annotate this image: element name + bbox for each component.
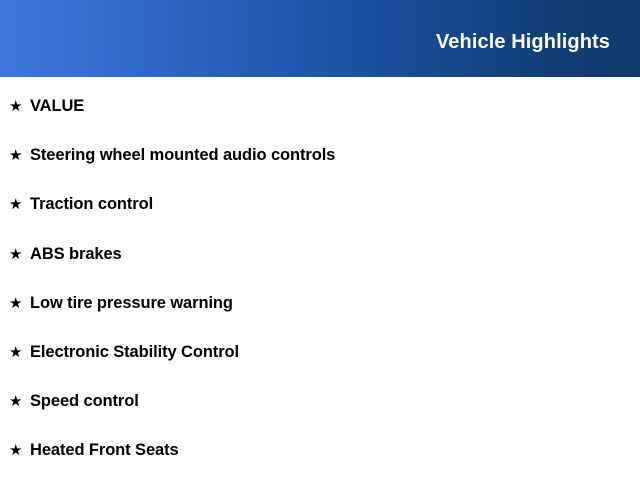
star-icon: ★ <box>9 394 30 409</box>
list-item: ★ ABS brakes <box>0 246 640 295</box>
list-item: ★ Traction control <box>0 196 640 245</box>
list-item: ★ Steering wheel mounted audio controls <box>0 147 640 196</box>
list-item: ★ Electronic Stability Control <box>0 344 640 393</box>
star-icon: ★ <box>9 296 30 311</box>
vehicle-highlights-list: ★ VALUE ★ Steering wheel mounted audio c… <box>0 77 640 492</box>
star-icon: ★ <box>9 443 30 458</box>
list-item-label: Electronic Stability Control <box>30 344 239 361</box>
star-icon: ★ <box>9 148 30 163</box>
star-icon: ★ <box>9 345 30 360</box>
page-title: Vehicle Highlights <box>436 32 610 52</box>
list-item: ★ Low tire pressure warning <box>0 295 640 344</box>
list-item: ★ Heated Front Seats <box>0 442 640 491</box>
page-header: Vehicle Highlights <box>0 0 640 77</box>
list-item-label: Traction control <box>30 196 153 213</box>
vehicle-highlights-page: Vehicle Highlights ★ VALUE ★ Steering wh… <box>0 0 640 480</box>
list-item: ★ VALUE <box>0 77 640 147</box>
list-item-label: ABS brakes <box>30 246 122 263</box>
list-item: ★ Speed control <box>0 393 640 442</box>
list-item-label: Steering wheel mounted audio controls <box>30 147 335 164</box>
star-icon: ★ <box>9 99 30 114</box>
list-item-label: Speed control <box>30 393 139 410</box>
list-item-label: Heated Front Seats <box>30 442 179 459</box>
list-item-label: VALUE <box>30 98 84 115</box>
list-item-label: Low tire pressure warning <box>30 295 233 312</box>
star-icon: ★ <box>9 197 30 212</box>
star-icon: ★ <box>9 247 30 262</box>
